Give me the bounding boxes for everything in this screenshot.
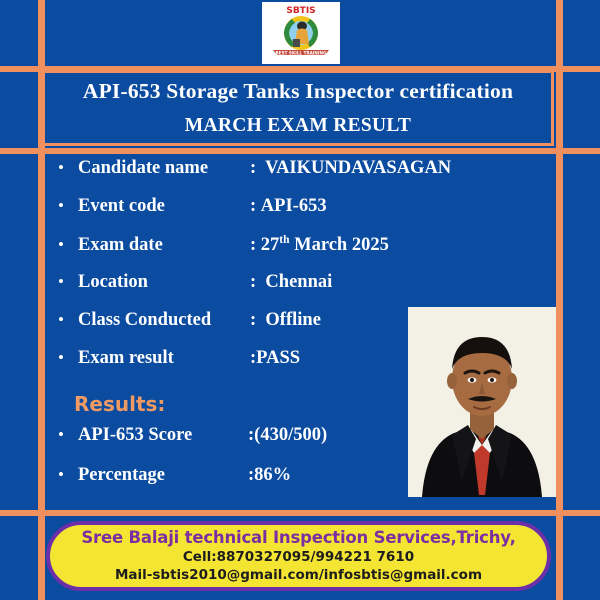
candidate-portrait-image xyxy=(408,307,556,497)
bullet-icon: • xyxy=(52,197,78,214)
detail-value: : Chennai xyxy=(250,272,332,293)
detail-value: : 27th March 2025 xyxy=(250,234,389,256)
poster-canvas: SBTIS BEST SKILL TRAINING BEST SKILL TRA… xyxy=(0,0,600,600)
detail-label: Event code xyxy=(78,196,250,217)
contact-phone[interactable]: Cell:8870327095/994221 7610 xyxy=(183,549,414,565)
frame-line-horizontal-mid xyxy=(0,148,600,154)
detail-value: : VAIKUNDAVASAGAN xyxy=(250,158,451,179)
title-block: API-653 Storage Tanks Inspector certific… xyxy=(42,70,554,146)
bullet-icon: • xyxy=(52,466,78,483)
results-heading: Results: xyxy=(74,392,165,416)
bullet-icon: • xyxy=(52,273,78,290)
results-list: • API-653 Score :(430/500) • Percentage … xyxy=(52,425,452,505)
bullet-icon: • xyxy=(52,236,78,253)
sbtis-logo-icon: SBTIS BEST SKILL TRAINING BEST SKILL TRA… xyxy=(263,3,339,63)
detail-row-location: • Location : Chennai xyxy=(52,272,492,310)
detail-label: Exam result xyxy=(78,348,250,369)
bullet-icon: • xyxy=(52,349,78,366)
bullet-icon: • xyxy=(52,426,78,443)
detail-label: Exam date xyxy=(78,235,250,256)
detail-value: :PASS xyxy=(250,348,300,369)
candidate-portrait xyxy=(408,307,556,497)
sbtis-logo: SBTIS BEST SKILL TRAINING BEST SKILL TRA… xyxy=(262,2,340,64)
detail-label: Class Conducted xyxy=(78,310,250,331)
result-row-score: • API-653 Score :(430/500) xyxy=(52,425,452,465)
svg-text:BEST SKILL TRAINING: BEST SKILL TRAINING xyxy=(276,50,327,55)
bullet-icon: • xyxy=(52,311,78,328)
detail-value: : Offline xyxy=(250,310,321,331)
detail-row-event-code: • Event code : API-653 xyxy=(52,196,492,234)
svg-text:SBTIS: SBTIS xyxy=(286,6,315,16)
bullet-icon: • xyxy=(52,159,78,176)
frame-line-horizontal-bottom xyxy=(0,510,600,516)
result-value: :(430/500) xyxy=(248,425,327,446)
detail-row-exam-date: • Exam date : 27th March 2025 xyxy=(52,234,492,272)
organisation-name: Sree Balaji technical Inspection Service… xyxy=(81,529,515,548)
page-subtitle: MARCH EXAM RESULT xyxy=(185,115,411,136)
ordinal-suffix: th xyxy=(279,234,289,246)
result-value: :86% xyxy=(248,465,291,486)
detail-label: Candidate name xyxy=(78,158,250,179)
detail-value: : API-653 xyxy=(250,196,327,217)
result-label: Percentage xyxy=(78,465,248,486)
contact-email[interactable]: Mail-sbtis2010@gmail.com/infosbtis@gmail… xyxy=(115,567,482,583)
page-title: API-653 Storage Tanks Inspector certific… xyxy=(83,80,513,104)
detail-row-candidate-name: • Candidate name : VAIKUNDAVASAGAN xyxy=(52,158,492,196)
footer-contact-banner: Sree Balaji technical Inspection Service… xyxy=(46,521,551,591)
detail-label: Location xyxy=(78,272,250,293)
result-label: API-653 Score xyxy=(78,425,248,446)
result-row-percentage: • Percentage :86% xyxy=(52,465,452,505)
